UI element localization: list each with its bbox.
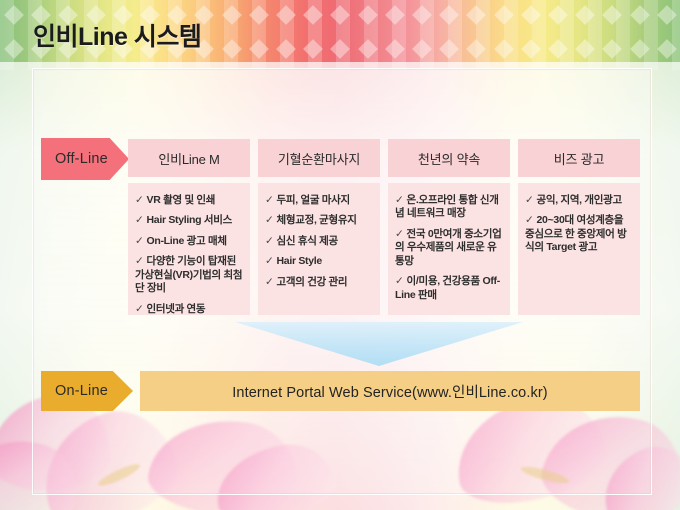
page-title: 인비Line 시스템 [33, 17, 201, 53]
list-item-text: 전국 0만여개 중소기업의 우수제품의 새로운 유통망 [395, 228, 502, 267]
diamond-motif [326, 0, 353, 34]
list-item: ✓온.오프라인 통합 신개념 네트워크 매장 [395, 194, 503, 221]
list-item-text: 고객의 건강 관리 [277, 276, 348, 288]
diamond-motif [299, 0, 326, 34]
column-body: ✓온.오프라인 통합 신개념 네트워크 매장 ✓전국 0만여개 중소기업의 우수… [388, 183, 510, 315]
check-icon: ✓ [265, 194, 274, 206]
column-header: 기혈순환마사지 [258, 139, 380, 177]
list-item: ✓체형교정, 균형유지 [265, 214, 373, 227]
list-item: ✓이/미용, 건강용품 Off-Line 판매 [395, 275, 503, 302]
column-header: 천년의 약속 [388, 139, 510, 177]
column-header: 비즈 광고 [518, 139, 640, 177]
offline-tag-label: Off-Line [41, 151, 108, 167]
column-inbiline-m: 인비Line M ✓VR 촬영 및 인쇄 ✓Hair Styling 서비스 ✓… [128, 139, 250, 315]
diamond-motif [354, 0, 381, 34]
diamond-motif [653, 0, 680, 34]
list-item-text: On-Line 광고 매체 [147, 235, 227, 247]
diamond-motif [626, 0, 653, 34]
check-icon: ✓ [265, 255, 274, 267]
diamond-motif [435, 0, 462, 34]
list-item: ✓인터넷과 연동 [135, 303, 243, 316]
list-item-text: Hair Styling 서비스 [147, 214, 232, 226]
check-icon: ✓ [135, 214, 144, 226]
diamond-motif [272, 0, 299, 34]
list-item-text: 공익, 지역, 개인광고 [537, 194, 622, 206]
slide-canvas: 인비Line 시스템 Off-Line 인비Line M ✓VR 촬영 및 인쇄… [0, 0, 680, 510]
list-item: ✓공익, 지역, 개인광고 [525, 194, 633, 207]
online-tag-label: On-Line [41, 383, 108, 399]
diamond-motif [490, 0, 517, 34]
list-item: ✓전국 0만여개 중소기업의 우수제품의 새로운 유통망 [395, 228, 503, 268]
diamond-motif [408, 0, 435, 34]
list-item-text: 인터넷과 연동 [147, 303, 206, 315]
list-item-text: 다양한 기능이 탑재된 가상현실(VR)기법의 최첨단 장비 [135, 255, 242, 294]
check-icon: ✓ [135, 194, 144, 206]
diamond-motif [598, 0, 625, 34]
check-icon: ✓ [135, 303, 144, 315]
offline-columns: 인비Line M ✓VR 촬영 및 인쇄 ✓Hair Styling 서비스 ✓… [128, 139, 640, 319]
list-item: ✓VR 촬영 및 인쇄 [135, 194, 243, 207]
list-item: ✓On-Line 광고 매체 [135, 235, 243, 248]
column-body: ✓VR 촬영 및 인쇄 ✓Hair Styling 서비스 ✓On-Line 광… [128, 183, 250, 315]
list-item-text: VR 촬영 및 인쇄 [147, 194, 216, 206]
check-icon: ✓ [395, 228, 404, 240]
online-portal-bar: Internet Portal Web Service(www.인비Line.c… [140, 371, 640, 411]
list-item: ✓두피, 얼굴 마사지 [265, 194, 373, 207]
column-gihyeol-massage: 기혈순환마사지 ✓두피, 얼굴 마사지 ✓체형교정, 균형유지 ✓심신 휴식 제… [258, 139, 380, 315]
check-icon: ✓ [525, 214, 534, 226]
list-item-text: 20~30대 여성계층을 중심으로 한 중앙제어 방식의 Target 광고 [525, 214, 626, 253]
list-item: ✓20~30대 여성계층을 중심으로 한 중앙제어 방식의 Target 광고 [525, 214, 633, 254]
list-item: ✓고객의 건강 관리 [265, 276, 373, 289]
diamond-motif [462, 0, 489, 34]
list-item-text: 심신 휴식 제공 [277, 235, 338, 247]
column-biz-ad: 비즈 광고 ✓공익, 지역, 개인광고 ✓20~30대 여성계층을 중심으로 한… [518, 139, 640, 315]
list-item: ✓다양한 기능이 탑재된 가상현실(VR)기법의 최첨단 장비 [135, 255, 243, 295]
check-icon: ✓ [135, 255, 144, 267]
list-item-text: Hair Style [277, 255, 322, 267]
list-item: ✓Hair Style [265, 255, 373, 268]
check-icon: ✓ [395, 194, 404, 206]
diamond-motif [245, 0, 272, 34]
list-item-text: 체형교정, 균형유지 [277, 214, 357, 226]
column-header: 인비Line M [128, 139, 250, 177]
diamond-motif [0, 0, 27, 34]
column-body: ✓두피, 얼굴 마사지 ✓체형교정, 균형유지 ✓심신 휴식 제공 ✓Hair … [258, 183, 380, 315]
diamond-motif [544, 0, 571, 34]
diamond-motif [218, 0, 245, 34]
diamond-motif [517, 0, 544, 34]
check-icon: ✓ [135, 235, 144, 247]
check-icon: ✓ [265, 214, 274, 226]
check-icon: ✓ [525, 194, 534, 206]
diamond-motif [571, 0, 598, 34]
online-portal-label: Internet Portal Web Service(www.인비Line.c… [232, 381, 547, 402]
list-item: ✓Hair Styling 서비스 [135, 214, 243, 227]
column-body: ✓공익, 지역, 개인광고 ✓20~30대 여성계층을 중심으로 한 중앙제어 … [518, 183, 640, 315]
check-icon: ✓ [395, 275, 404, 287]
check-icon: ✓ [265, 276, 274, 288]
column-cheonnyeon-promise: 천년의 약속 ✓온.오프라인 통합 신개념 네트워크 매장 ✓전국 0만여개 중… [388, 139, 510, 315]
diamond-motif [381, 0, 408, 34]
list-item: ✓심신 휴식 제공 [265, 235, 373, 248]
list-item-text: 온.오프라인 통합 신개념 네트워크 매장 [395, 194, 499, 219]
list-item-text: 두피, 얼굴 마사지 [277, 194, 350, 206]
list-item-text: 이/미용, 건강용품 Off-Line 판매 [395, 275, 500, 300]
check-icon: ✓ [265, 235, 274, 247]
